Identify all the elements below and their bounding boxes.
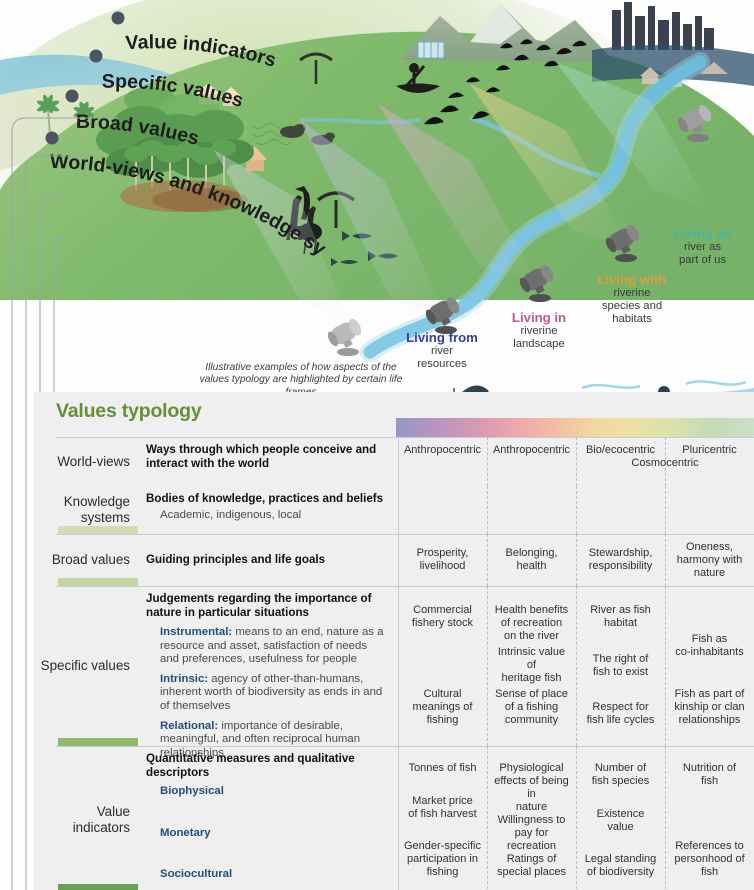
cell: Existence value — [581, 808, 660, 834]
cell: Anthropocentric — [487, 437, 576, 486]
cell-group: Physiological effects of being in nature… — [487, 746, 576, 890]
panel-title: Values typology — [56, 400, 201, 423]
row-category: World-views — [40, 437, 138, 486]
cell-cosmocentric: Cosmocentric — [576, 457, 754, 469]
life-frame-subtitle: river as part of us — [651, 241, 754, 267]
cell: Intrinsic value of heritage fish — [492, 646, 571, 685]
cell: Tonnes of fish — [403, 762, 482, 775]
cell: Physiological effects of being in nature — [492, 762, 571, 814]
dam-icon — [418, 42, 444, 58]
cell: River as fish habitat — [581, 604, 660, 630]
table-row-knowledge-systems: Knowledge systems Bodies of knowledge, p… — [40, 486, 754, 534]
cell-group: Commercial fishery stock Cultural meanin… — [398, 586, 487, 746]
cell-group: Tonnes of fish Market price of fish harv… — [398, 746, 487, 890]
row-description: Guiding principles and life goals — [138, 534, 398, 586]
cell: Cultural meanings of fishing — [403, 688, 482, 739]
cell: Ratings of special places — [492, 853, 571, 887]
city-silhouette — [612, 2, 714, 50]
row-accent-bar — [58, 884, 138, 890]
cell-group: Fish as co-inhabitants Fish as part of k… — [665, 586, 754, 746]
cell: Gender-specific participation in fishing — [403, 840, 482, 887]
life-frame-subtitle: riverine species and habitats — [573, 287, 691, 326]
row-cells — [398, 486, 754, 534]
infographic-root: Value indicators Specific values Broad v… — [0, 0, 754, 890]
cell-group: River as fish habitat The right of fish … — [576, 586, 665, 746]
row-accent-bar — [58, 578, 138, 586]
cell: Stewardship, responsibility — [576, 534, 665, 586]
row-category: Specific values — [40, 586, 138, 746]
cell: Legal standing of biodiversity — [581, 853, 660, 887]
life-frame-gradient-strip — [396, 418, 754, 437]
cell-group: Number of fish species Existence value L… — [576, 746, 665, 890]
row-description: Judgements regarding the importance of n… — [138, 586, 398, 746]
spotlight-icon-living-in — [518, 258, 564, 304]
landscape-svg — [0, 0, 754, 420]
row-description: Quantitative measures and qualitative de… — [138, 746, 398, 890]
row-description: Bodies of knowledge, practices and belie… — [138, 486, 398, 534]
spotlight-icon-living-as — [676, 98, 722, 144]
table-row-broad-values: Broad values Guiding principles and life… — [40, 534, 754, 586]
row-category: Broad values — [40, 534, 138, 586]
cell: Anthropocentric — [398, 437, 487, 486]
row-category: Value indicators — [40, 746, 138, 890]
row-accent-bar — [58, 526, 138, 534]
cell: Market price of fish harvest — [403, 795, 482, 821]
row-accent-bar — [58, 738, 138, 746]
values-typology-table: World-views Ways through which people co… — [40, 437, 754, 890]
table-row-world-views: World-views Ways through which people co… — [40, 437, 754, 486]
table-row-value-indicators: Value indicators Quantitative measures a… — [40, 746, 754, 890]
cell: Respect for fish life cycles — [581, 701, 660, 739]
cell: Oneness, harmony with nature — [665, 534, 754, 586]
cell: References to personhood of fish — [670, 840, 749, 887]
table-row-specific-values: Specific values Judgements regarding the… — [40, 586, 754, 746]
cell: Prosperity, livelihood — [398, 534, 487, 586]
row-cells: Commercial fishery stock Cultural meanin… — [398, 586, 754, 746]
life-frame-title: Living as — [651, 226, 754, 241]
cell: Fish as part of kinship or clan relation… — [670, 688, 749, 739]
cell: Willingness to pay for recreation — [492, 814, 571, 853]
cell-group: Nutrition of fish References to personho… — [665, 746, 754, 890]
cell: Number of fish species — [581, 762, 660, 788]
cell-group: Health benefits of recreation on the riv… — [487, 586, 576, 746]
life-frame-living-with: Living with riverine species and habitat… — [573, 272, 691, 326]
cell: Health benefits of recreation on the riv… — [492, 604, 571, 643]
cell: Fish as co-inhabitants — [670, 633, 749, 659]
row-cells: Anthropocentric Anthropocentric Bio/ecoc… — [398, 437, 754, 486]
cell: Commercial fishery stock — [403, 604, 482, 630]
row-category: Knowledge systems — [40, 486, 138, 534]
cell: Belonging, health — [487, 534, 576, 586]
row-cells: Prosperity, livelihood Belonging, health… — [398, 534, 754, 586]
cell: The right of fish to exist — [581, 653, 660, 679]
life-frame-title: Living with — [573, 272, 691, 287]
life-frame-subtitle: riverine landscape — [480, 325, 598, 351]
landscape-illustration: Value indicators Specific values Broad v… — [0, 0, 754, 420]
spotlight-icon-illustrative — [326, 312, 372, 358]
cell: Nutrition of fish — [670, 762, 749, 788]
spotlight-icon-living-with — [604, 218, 650, 264]
row-description: Ways through which people conceive and i… — [138, 437, 398, 486]
life-frame-living-as: Living as river as part of us — [651, 226, 754, 267]
cell: Sense of place of a fishing community — [492, 688, 571, 739]
row-cells: Tonnes of fish Market price of fish harv… — [398, 746, 754, 890]
